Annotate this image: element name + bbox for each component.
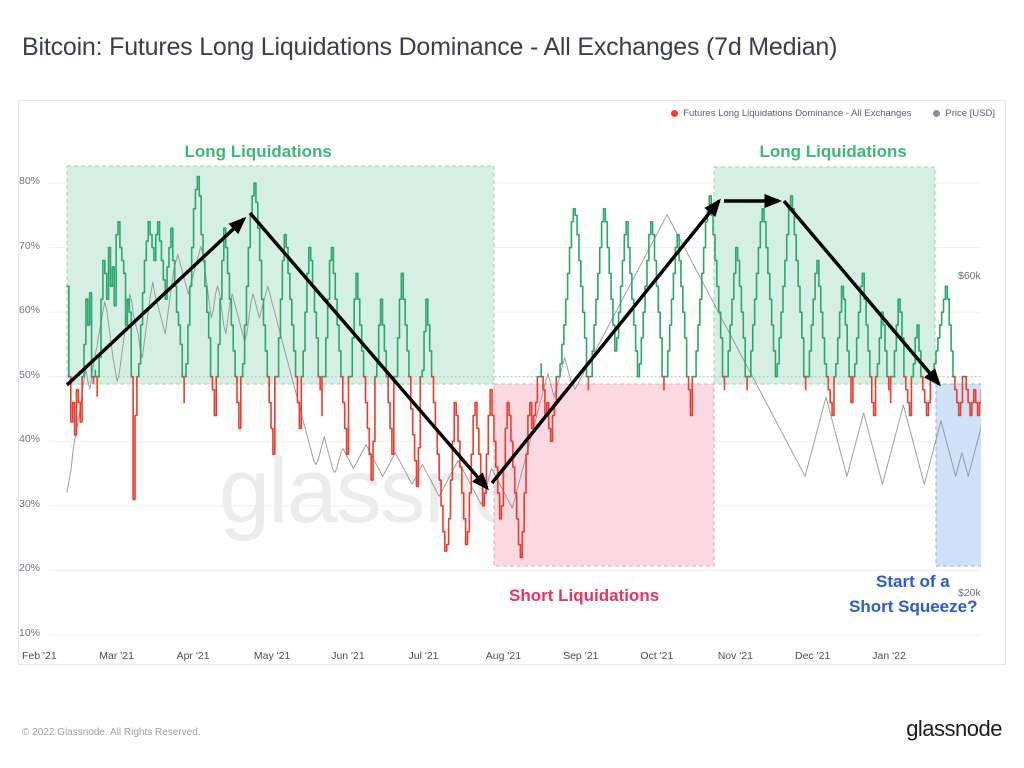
x-axis-tick-Mar21: Mar '21 bbox=[99, 650, 134, 662]
long-liquidations-left: Long Liquidations bbox=[185, 142, 332, 162]
y-axis-tick-30: 30% bbox=[8, 498, 40, 510]
x-axis-tick-Dec21: Dec '21 bbox=[795, 650, 830, 662]
x-axis-tick-Jul21: Jul '21 bbox=[409, 650, 439, 662]
y-axis-tick-50: 50% bbox=[8, 369, 40, 381]
x-axis-tick-Jun21: Jun '21 bbox=[331, 650, 365, 662]
y-axis-tick-60: 60% bbox=[8, 304, 40, 316]
y-axis-tick-80: 80% bbox=[8, 175, 40, 187]
y-axis-tick-70: 70% bbox=[8, 240, 40, 252]
legend-item-price[interactable]: Price [USD] bbox=[933, 108, 995, 119]
chart-legend: Futures Long Liquidations Dominance - Al… bbox=[671, 108, 995, 119]
copyright-text: © 2022 Glassnode. All Rights Reserved. bbox=[22, 727, 201, 738]
legend-item-dominance[interactable]: Futures Long Liquidations Dominance - Al… bbox=[671, 108, 911, 119]
chart-canvas bbox=[49, 131, 981, 661]
long-liquidations-right: Long Liquidations bbox=[760, 142, 907, 162]
legend-label-price: Price [USD] bbox=[945, 108, 995, 119]
plot-area bbox=[49, 131, 981, 661]
chart-page: Bitcoin: Futures Long Liquidations Domin… bbox=[0, 0, 1024, 768]
short-squeeze-line1: Start of a bbox=[876, 572, 950, 592]
x-axis-tick-Aug21: Aug '21 bbox=[486, 650, 521, 662]
y-axis-tick-10: 10% bbox=[8, 627, 40, 639]
chart-panel: Futures Long Liquidations Dominance - Al… bbox=[18, 100, 1006, 665]
y-axis-tick-40: 40% bbox=[8, 433, 40, 445]
x-axis-tick-Feb21: Feb '21 bbox=[22, 650, 57, 662]
x-axis-tick-Sep21: Sep '21 bbox=[563, 650, 598, 662]
glassnode-logo: glassnode bbox=[906, 716, 1002, 742]
page-title: Bitcoin: Futures Long Liquidations Domin… bbox=[22, 33, 837, 62]
x-axis-tick-Jan22: Jan '22 bbox=[872, 650, 906, 662]
x-axis-tick-Oct21: Oct '21 bbox=[640, 650, 673, 662]
short-squeeze-line2: Short Squeeze? bbox=[849, 597, 977, 617]
price-axis-tick-60k: $60k bbox=[958, 270, 981, 282]
x-axis-tick-Apr21: Apr '21 bbox=[177, 650, 210, 662]
x-axis-tick-Nov21: Nov '21 bbox=[718, 650, 753, 662]
x-axis-tick-May21: May '21 bbox=[254, 650, 290, 662]
y-axis-tick-20: 20% bbox=[8, 562, 40, 574]
legend-dot-price bbox=[933, 110, 940, 117]
short-liquidations: Short Liquidations bbox=[509, 586, 659, 606]
legend-label-dominance: Futures Long Liquidations Dominance - Al… bbox=[683, 108, 911, 119]
legend-dot-dominance bbox=[671, 110, 678, 117]
